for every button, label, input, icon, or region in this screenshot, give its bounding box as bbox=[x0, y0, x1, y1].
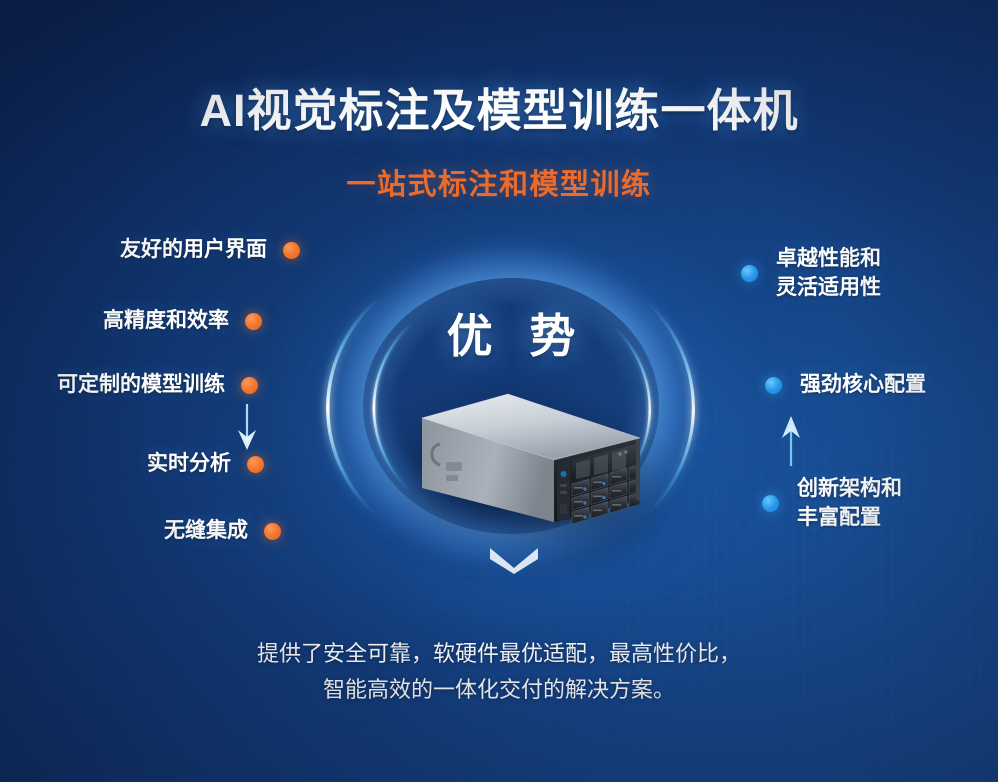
feature-item-right-2[interactable]: 强劲核心配置 bbox=[765, 371, 998, 400]
caption-line-2: 智能高效的一体化交付的解决方案。 bbox=[0, 672, 998, 708]
orange-dot-icon bbox=[264, 523, 281, 540]
center-heading-advantage: 优 势 bbox=[301, 300, 721, 366]
orange-dot-icon bbox=[245, 313, 262, 330]
feature-label-line2: 丰富配置 bbox=[797, 504, 902, 533]
feature-label-line1: 卓越性能和 bbox=[776, 245, 881, 274]
rack-server-icon bbox=[404, 392, 640, 544]
feature-item-left-1[interactable]: 友好的用户界面 bbox=[0, 236, 300, 265]
chevron-down-icon[interactable] bbox=[487, 544, 541, 574]
arrow-up-icon bbox=[772, 408, 810, 466]
summary-caption: 提供了安全可靠，软硬件最优适配，最高性价比， 智能高效的一体化交付的解决方案。 bbox=[0, 636, 998, 707]
feature-label: 实时分析 bbox=[147, 450, 231, 479]
feature-label-line2: 灵活适用性 bbox=[776, 274, 881, 303]
blue-dot-icon bbox=[765, 377, 782, 394]
feature-item-left-5[interactable]: 无缝集成 bbox=[0, 517, 281, 546]
caption-line-1: 提供了安全可靠，软硬件最优适配，最高性价比， bbox=[0, 636, 998, 672]
feature-label: 无缝集成 bbox=[164, 517, 248, 546]
orange-dot-icon bbox=[241, 377, 258, 394]
feature-item-left-4[interactable]: 实时分析 bbox=[0, 450, 264, 479]
page-title: AI视觉标注及模型训练一体机 bbox=[0, 74, 998, 139]
blue-dot-icon bbox=[741, 265, 758, 282]
feature-label-line1: 创新架构和 bbox=[797, 475, 902, 504]
orange-dot-icon bbox=[283, 242, 300, 259]
feature-item-left-2[interactable]: 高精度和效率 bbox=[0, 307, 262, 336]
feature-item-right-3[interactable]: 创新架构和 丰富配置 bbox=[762, 475, 998, 533]
feature-item-right-1[interactable]: 卓越性能和 灵活适用性 bbox=[741, 245, 998, 303]
feature-label: 强劲核心配置 bbox=[800, 371, 926, 400]
feature-label: 友好的用户界面 bbox=[120, 236, 267, 265]
blue-dot-icon bbox=[762, 495, 779, 512]
feature-label: 高精度和效率 bbox=[103, 307, 229, 336]
orange-dot-icon bbox=[247, 456, 264, 473]
poster-canvas: AI视觉标注及模型训练一体机 一站式标注和模型训练 bbox=[0, 0, 998, 782]
feature-item-left-3[interactable]: 可定制的模型训练 bbox=[0, 371, 258, 400]
feature-label: 可定制的模型训练 bbox=[57, 371, 225, 400]
